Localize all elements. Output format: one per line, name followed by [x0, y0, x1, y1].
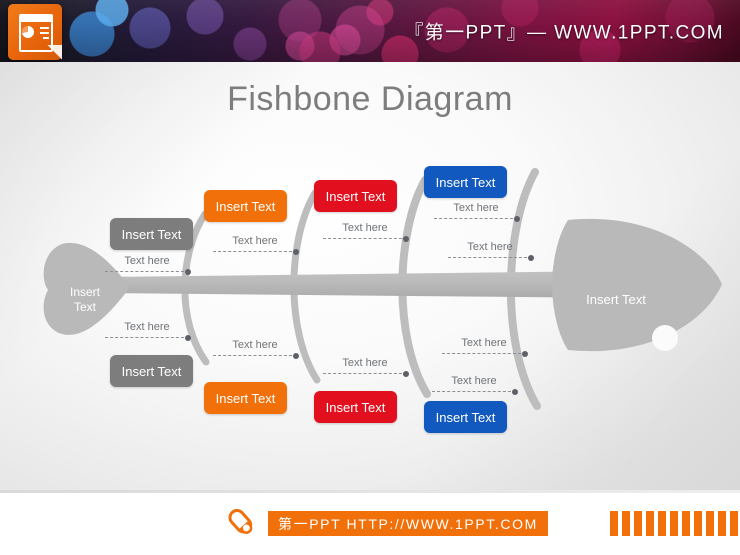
head-label: Insert Text	[566, 292, 666, 307]
fish-eye	[652, 325, 678, 351]
branch-box-4-bottom[interactable]: Insert Text	[424, 401, 507, 433]
leaf-connector-line	[323, 373, 407, 374]
leaf-connector-line	[105, 337, 189, 338]
leaf-connector-line	[442, 353, 526, 354]
leaf-connector-line	[213, 251, 297, 252]
leaf-endpoint-dot	[185, 269, 191, 275]
leaf-2-bottom[interactable]: Text here	[213, 332, 297, 360]
footer-stripes	[610, 511, 740, 536]
leaf-label: Text here	[448, 241, 532, 253]
branch-box-3-bottom[interactable]: Insert Text	[314, 391, 397, 423]
banner-url-text: 『第一PPT』— WWW.1PPT.COM	[404, 18, 724, 45]
leaf-connector-line	[213, 355, 297, 356]
footer-url-bar: 第一PPT HTTP://WWW.1PPT.COM	[268, 511, 548, 536]
leaf-endpoint-dot	[522, 351, 528, 357]
leaf-4-bottom-b[interactable]: Text here	[432, 368, 516, 396]
leaf-connector-line	[432, 391, 516, 392]
fish-head	[552, 219, 722, 351]
leaf-4-bottom-a[interactable]: Text here	[442, 330, 526, 358]
leaf-endpoint-dot	[528, 255, 534, 261]
leaf-label: Text here	[105, 321, 189, 333]
leaf-label: Text here	[105, 255, 189, 267]
leaf-1-bottom[interactable]: Text here	[105, 314, 189, 342]
leaf-connector-line	[434, 218, 518, 219]
leaf-endpoint-dot	[293, 353, 299, 359]
branch-box-1-top[interactable]: Insert Text	[110, 218, 193, 250]
branch-box-2-top[interactable]: Insert Text	[204, 190, 287, 222]
leaf-4-top-b[interactable]: Text here	[448, 234, 532, 262]
leaf-label: Text here	[213, 339, 297, 351]
leaf-endpoint-dot	[293, 249, 299, 255]
text-line-glyph	[40, 32, 49, 34]
leaf-connector-line	[105, 271, 189, 272]
leaf-label: Text here	[432, 375, 516, 387]
tail-label-line1: Insert	[50, 285, 120, 300]
leaf-1-top[interactable]: Text here	[105, 248, 189, 276]
text-line-glyph	[43, 37, 49, 39]
pie-chart-glyph	[22, 26, 34, 38]
leaf-connector-line	[323, 238, 407, 239]
leaf-4-top-a[interactable]: Text here	[434, 195, 518, 223]
branch-box-2-bottom[interactable]: Insert Text	[204, 382, 287, 414]
branch-box-4-top[interactable]: Insert Text	[424, 166, 507, 198]
leaf-endpoint-dot	[185, 335, 191, 341]
leaf-endpoint-dot	[403, 236, 409, 242]
footer-divider	[0, 490, 740, 493]
leaf-endpoint-dot	[512, 389, 518, 395]
pencil-icon	[224, 505, 258, 539]
leaf-2-top[interactable]: Text here	[213, 228, 297, 256]
leaf-label: Text here	[323, 222, 407, 234]
leaf-3-bottom[interactable]: Text here	[323, 350, 407, 378]
leaf-label: Text here	[434, 202, 518, 214]
page-fold-corner	[47, 45, 62, 60]
slide: 『第一PPT』— WWW.1PPT.COM Fishbone Diagram	[0, 0, 740, 555]
tail-label: Insert Text	[50, 285, 120, 315]
powerpoint-document-icon	[8, 4, 62, 60]
leaf-endpoint-dot	[403, 371, 409, 377]
leaf-label: Text here	[442, 337, 526, 349]
fishbone-skeleton	[0, 62, 740, 490]
leaf-connector-line	[448, 257, 532, 258]
leaf-label: Text here	[213, 235, 297, 247]
leaf-3-top[interactable]: Text here	[323, 215, 407, 243]
leaf-endpoint-dot	[514, 216, 520, 222]
branch-box-3-top[interactable]: Insert Text	[314, 180, 397, 212]
text-line-glyph	[40, 27, 49, 29]
leaf-label: Text here	[323, 357, 407, 369]
branch-box-1-bottom[interactable]: Insert Text	[110, 355, 193, 387]
top-banner: 『第一PPT』— WWW.1PPT.COM	[0, 0, 740, 62]
tail-label-line2: Text	[50, 300, 120, 315]
